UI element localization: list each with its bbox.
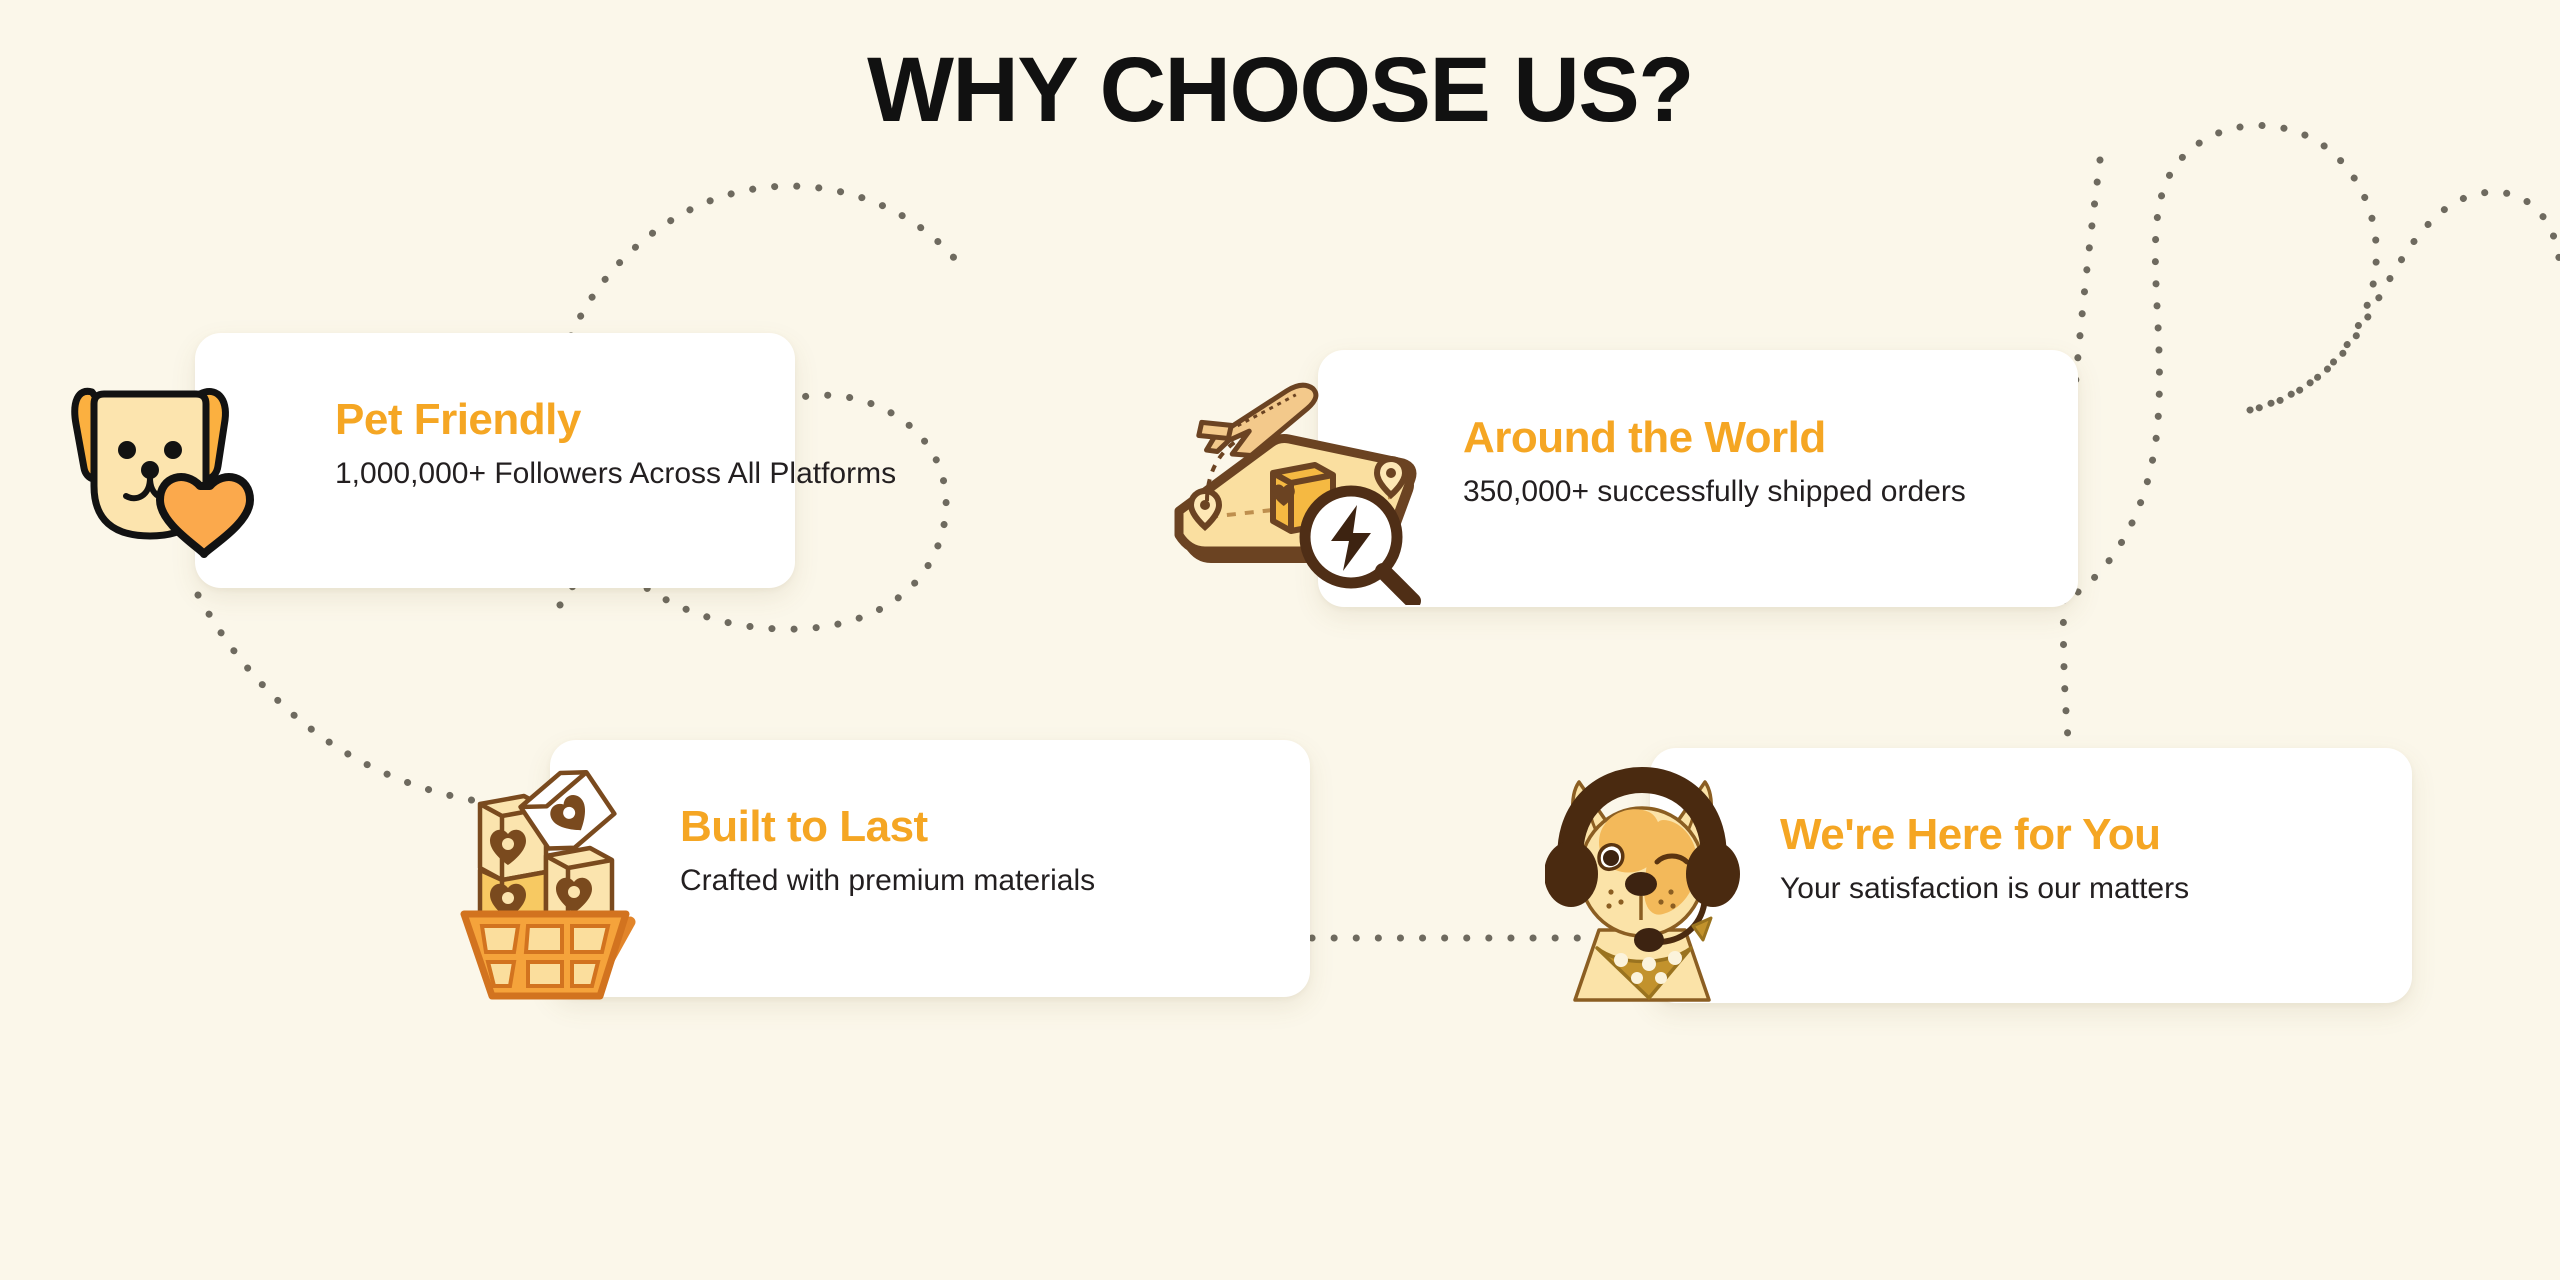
page-title: WHY CHOOSE US? (0, 40, 2560, 141)
card-were-here-for-you-text: We're Here for You Your satisfaction is … (1780, 810, 2189, 907)
card-were-here-for-you[interactable]: We're Here for You Your satisfaction is … (1650, 748, 2412, 1003)
dotted-path-heart-loop-right (2250, 192, 2560, 410)
card-around-the-world-subtitle: 350,000+ successfully shipped orders (1463, 474, 1966, 510)
dotted-path-heart-loop (2078, 125, 2376, 592)
card-built-to-last-title: Built to Last (680, 802, 1095, 853)
card-built-to-last-text: Built to Last Crafted with premium mater… (680, 802, 1095, 899)
card-around-the-world-text: Around the World 350,000+ successfully s… (1463, 413, 1966, 510)
card-were-here-for-you-title: We're Here for You (1780, 810, 2189, 861)
dog-face-with-heart-icon (48, 358, 288, 588)
card-pet-friendly-title: Pet Friendly (335, 395, 896, 446)
stacked-boxes-basket-icon (440, 760, 675, 1015)
card-built-to-last-subtitle: Crafted with premium materials (680, 863, 1095, 899)
card-around-the-world-title: Around the World (1463, 413, 1966, 464)
card-were-here-for-you-subtitle: Your satisfaction is our matters (1780, 871, 2189, 907)
card-pet-friendly-text: Pet Friendly 1,000,000+ Followers Across… (335, 395, 896, 492)
dog-with-headset-icon (1545, 762, 1740, 1012)
infographic-stage: WHY CHOOSE US? Pet Friendly 1,000,000+ F… (0, 0, 2560, 1280)
card-pet-friendly-subtitle: 1,000,000+ Followers Across All Platform… (335, 456, 896, 492)
airplane-map-package-magnifier-icon (1155, 375, 1445, 605)
